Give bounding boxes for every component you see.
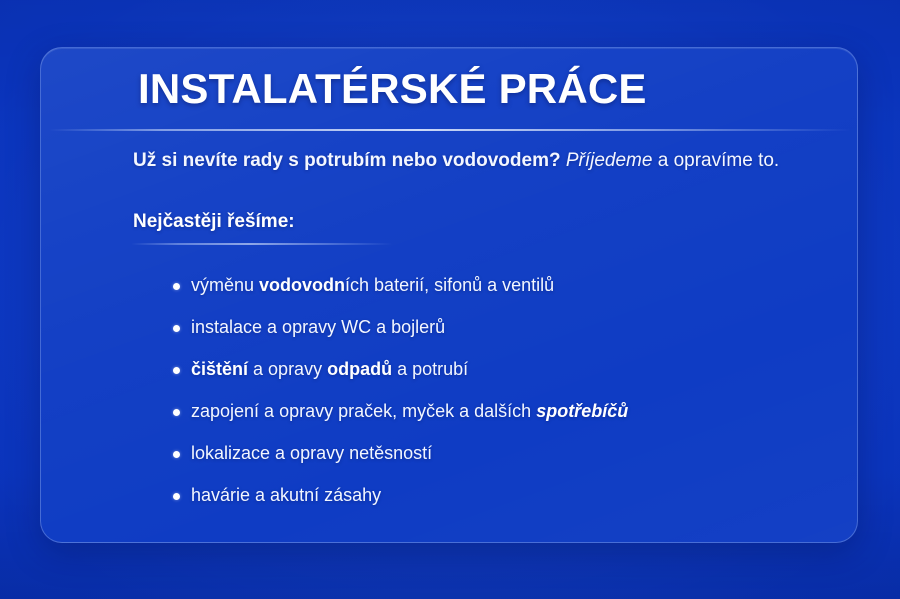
list-item: zapojení a opravy praček, myček a dalšíc… xyxy=(133,391,823,433)
list-item-label: havárie a akutní zásahy xyxy=(191,485,381,507)
list-item-text-segment: výměnu xyxy=(191,275,259,295)
bullet-icon xyxy=(173,493,180,500)
slide-canvas: INSTALATÉRSKÉ PRÁCE Už si nevíte rady s … xyxy=(0,0,900,599)
lead-question: Už si nevíte rady s potrubím nebo vodovo… xyxy=(133,150,561,171)
card-content: INSTALATÉRSKÉ PRÁCE Už si nevíte rady s … xyxy=(41,48,857,542)
bullet-icon xyxy=(173,367,180,374)
bullet-icon xyxy=(173,283,180,290)
list-item-text-segment: lokalizace a opravy netěsností xyxy=(191,443,432,463)
list-item-text-segment: ích baterií, sifonů a ventilů xyxy=(345,275,554,295)
list-item-text-segment: instalace a opravy WC a bojlerů xyxy=(191,317,445,337)
list-item-label: čištění a opravy odpadů a potrubí xyxy=(191,359,468,381)
bullet-icon xyxy=(173,451,180,458)
section-heading-divider xyxy=(131,243,393,245)
service-list: výměnu vodovodních baterií, sifonů a ven… xyxy=(133,265,823,517)
list-item: výměnu vodovodních baterií, sifonů a ven… xyxy=(133,265,823,307)
list-item-label: výměnu vodovodních baterií, sifonů a ven… xyxy=(191,275,554,297)
list-item-text-segment: vodovodn xyxy=(259,275,345,295)
list-item-text-segment: spotřebíčů xyxy=(536,401,628,421)
list-item-text-segment: čištění xyxy=(191,359,248,379)
section-heading: Nejčastěji řešíme: xyxy=(133,211,295,233)
list-item: lokalizace a opravy netěsností xyxy=(133,433,823,475)
services-card: INSTALATÉRSKÉ PRÁCE Už si nevíte rady s … xyxy=(40,47,858,543)
list-item-label: instalace a opravy WC a bojlerů xyxy=(191,317,445,339)
list-item-text-segment: zapojení a opravy praček, myček a dalšíc… xyxy=(191,401,536,421)
lead-emphasis: Příjedeme xyxy=(566,150,653,171)
list-item-text-segment: odpadů xyxy=(327,359,392,379)
page-title: INSTALATÉRSKÉ PRÁCE xyxy=(138,68,647,110)
list-item: čištění a opravy odpadů a potrubí xyxy=(133,349,823,391)
title-divider xyxy=(49,129,851,131)
list-item: instalace a opravy WC a bojlerů xyxy=(133,307,823,349)
list-item-text-segment: havárie a akutní zásahy xyxy=(191,485,381,505)
bullet-icon xyxy=(173,325,180,332)
list-item-text-segment: a opravy xyxy=(248,359,327,379)
list-item-label: lokalizace a opravy netěsností xyxy=(191,443,432,465)
lead-tail: a opravíme to. xyxy=(658,150,779,171)
list-item: havárie a akutní zásahy xyxy=(133,475,823,517)
lead-paragraph: Už si nevíte rady s potrubím nebo vodovo… xyxy=(133,149,779,173)
list-item-label: zapojení a opravy praček, myček a dalšíc… xyxy=(191,401,628,423)
list-item-text-segment: a potrubí xyxy=(392,359,468,379)
bullet-icon xyxy=(173,409,180,416)
